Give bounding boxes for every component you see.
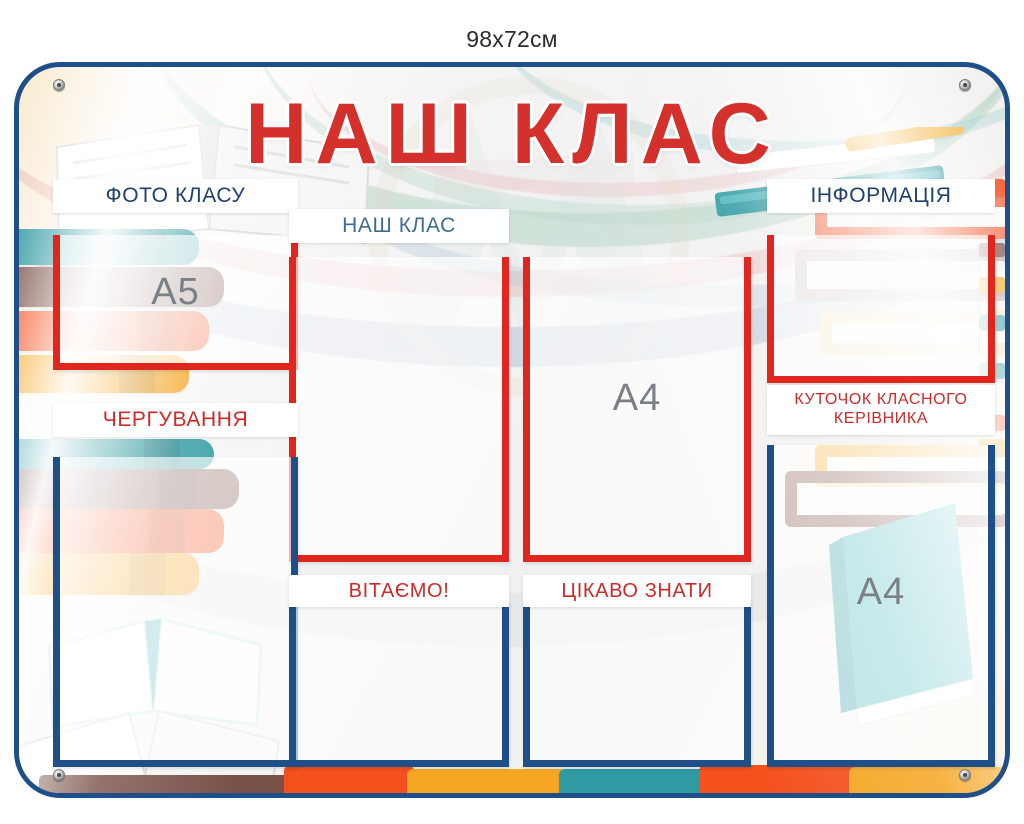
plate-our-class: НАШ КЛАС [289, 209, 509, 243]
pocket-right-bottom-size: A4 [774, 571, 988, 614]
plate-our-class-label: НАШ КЛАС [342, 215, 456, 237]
swoosh-green-1 [139, 62, 1010, 247]
pocket-right-bottom[interactable]: A4 [767, 445, 995, 767]
swoosh-pink-2 [309, 62, 909, 197]
plate-duty: ЧЕРГУВАННЯ [53, 403, 298, 437]
information-board: НАШ КЛАС A5 A4 A4 [14, 62, 1010, 798]
mounting-screw-bottom-left [53, 769, 65, 781]
plate-congratulations: ВІТАЄМО! [289, 575, 509, 607]
book-spine-orange-bottom [284, 765, 414, 798]
plate-information: ІНФОРМАЦІЯ [767, 179, 995, 213]
size-caption: 98х72см [0, 26, 1024, 53]
swoosh-teal-1 [489, 62, 1010, 157]
board-title: НАШ КЛАС [19, 85, 1005, 184]
plate-photo-class-label: ФОТО КЛАСУ [106, 185, 246, 207]
pocket-photo-class-size: A5 [60, 271, 291, 314]
pocket-duty[interactable] [53, 457, 298, 767]
plate-congratulations-label: ВІТАЄМО! [349, 581, 450, 602]
pocket-our-class[interactable] [289, 257, 509, 562]
book-spine-orange-bottom-2 [699, 765, 869, 798]
pocket-interesting[interactable] [523, 601, 751, 767]
mounting-screw-bottom-right [959, 769, 971, 781]
plate-teacher-corner-line2: КЕРІВНИКА [834, 411, 928, 428]
pocket-center-right-size: A4 [530, 377, 744, 420]
plate-photo-class: ФОТО КЛАСУ [53, 179, 298, 213]
pocket-photo-class[interactable]: A5 [53, 235, 298, 370]
pocket-congratulations[interactable] [289, 601, 509, 767]
screenshot-root: 98х72см [0, 0, 1024, 824]
book-spine-teal-bottom [559, 769, 709, 798]
plate-teacher-corner: КУТОЧОК КЛАСНОГО КЕРІВНИКА [767, 385, 995, 435]
mounting-screw-top-right [959, 79, 971, 91]
book-spine-yellow-bottom-2 [849, 767, 1010, 798]
plate-interesting: ЦІКАВО ЗНАТИ [523, 575, 751, 607]
mounting-screw-top-left [53, 79, 65, 91]
plate-interesting-label: ЦІКАВО ЗНАТИ [561, 581, 712, 602]
plate-duty-label: ЧЕРГУВАННЯ [103, 409, 249, 431]
pocket-information[interactable] [767, 235, 995, 383]
plate-teacher-corner-line1: КУТОЧОК КЛАСНОГО [794, 392, 967, 409]
pocket-center-right[interactable]: A4 [523, 257, 751, 562]
plate-information-label: ІНФОРМАЦІЯ [810, 185, 951, 207]
book-spine-yellow-bottom [407, 769, 567, 798]
